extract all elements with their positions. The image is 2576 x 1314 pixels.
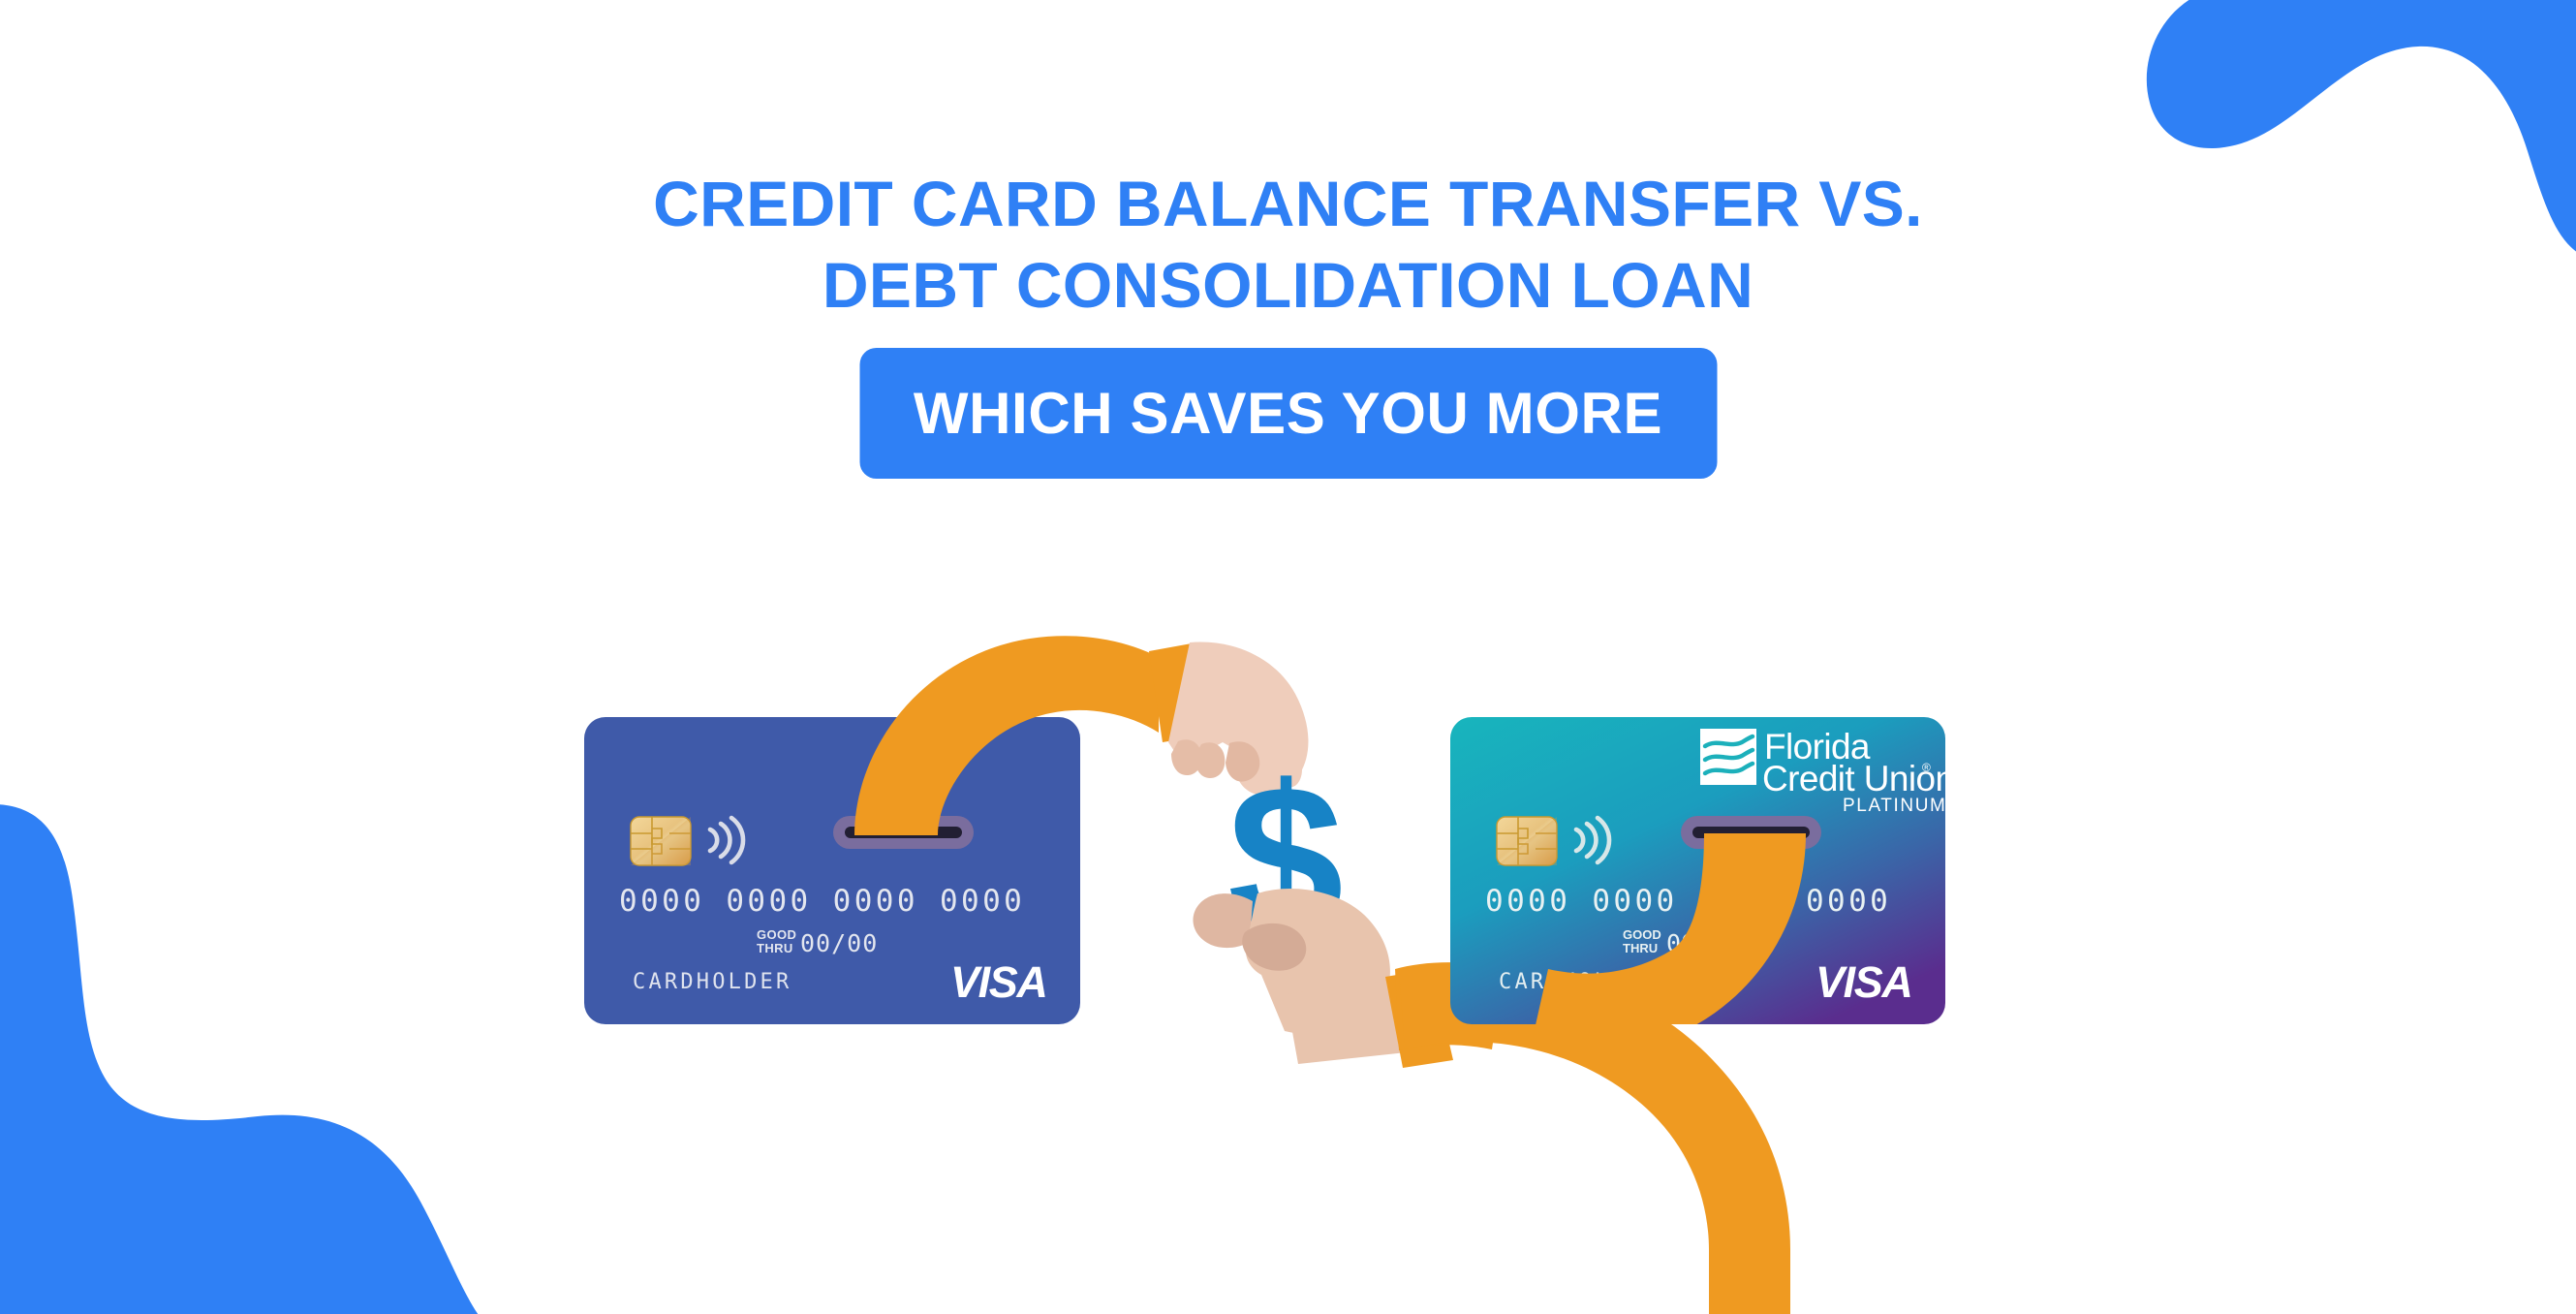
right-hand: [1193, 889, 1407, 1064]
left-card-good-thru-line1: GOOD: [757, 927, 796, 942]
right-card-brand-trademark: ®: [1922, 761, 1931, 774]
right-card-visa-logo: VISA: [1816, 957, 1911, 1007]
chip-icon: [631, 817, 691, 865]
right-card-good-thru-line2: THRU: [1623, 941, 1658, 955]
cards-transfer-illustration: 0000 0000 0000 0000 GOOD THRU 00/00 CARD…: [0, 0, 2576, 1314]
chip-icon: [1497, 817, 1557, 865]
svg-text:VISA: VISA: [1816, 957, 1911, 1007]
left-credit-card: 0000 0000 0000 0000 GOOD THRU 00/00 CARD…: [584, 717, 1080, 1024]
florida-credit-union-logo-mark: [1700, 729, 1756, 785]
right-credit-card: Florida Credit Union ® PLATINUM: [1450, 717, 1954, 1053]
left-card-good-thru-line2: THRU: [757, 941, 793, 955]
left-card-expiry: 00/00: [800, 929, 878, 957]
right-card-good-thru-line1: GOOD: [1623, 927, 1661, 942]
poster-canvas: CREDIT CARD BALANCE TRANSFER VS. DEBT CO…: [0, 0, 2576, 1314]
right-card-number: 0000 0000 0000 0000: [1485, 884, 1891, 919]
right-card-brand-tier: PLATINUM: [1843, 796, 1946, 816]
left-card-cardholder: CARDHOLDER: [633, 970, 791, 994]
left-card-number: 0000 0000 0000 0000: [619, 884, 1025, 919]
svg-text:VISA: VISA: [950, 957, 1046, 1007]
left-card-visa-logo: VISA: [950, 957, 1046, 1007]
